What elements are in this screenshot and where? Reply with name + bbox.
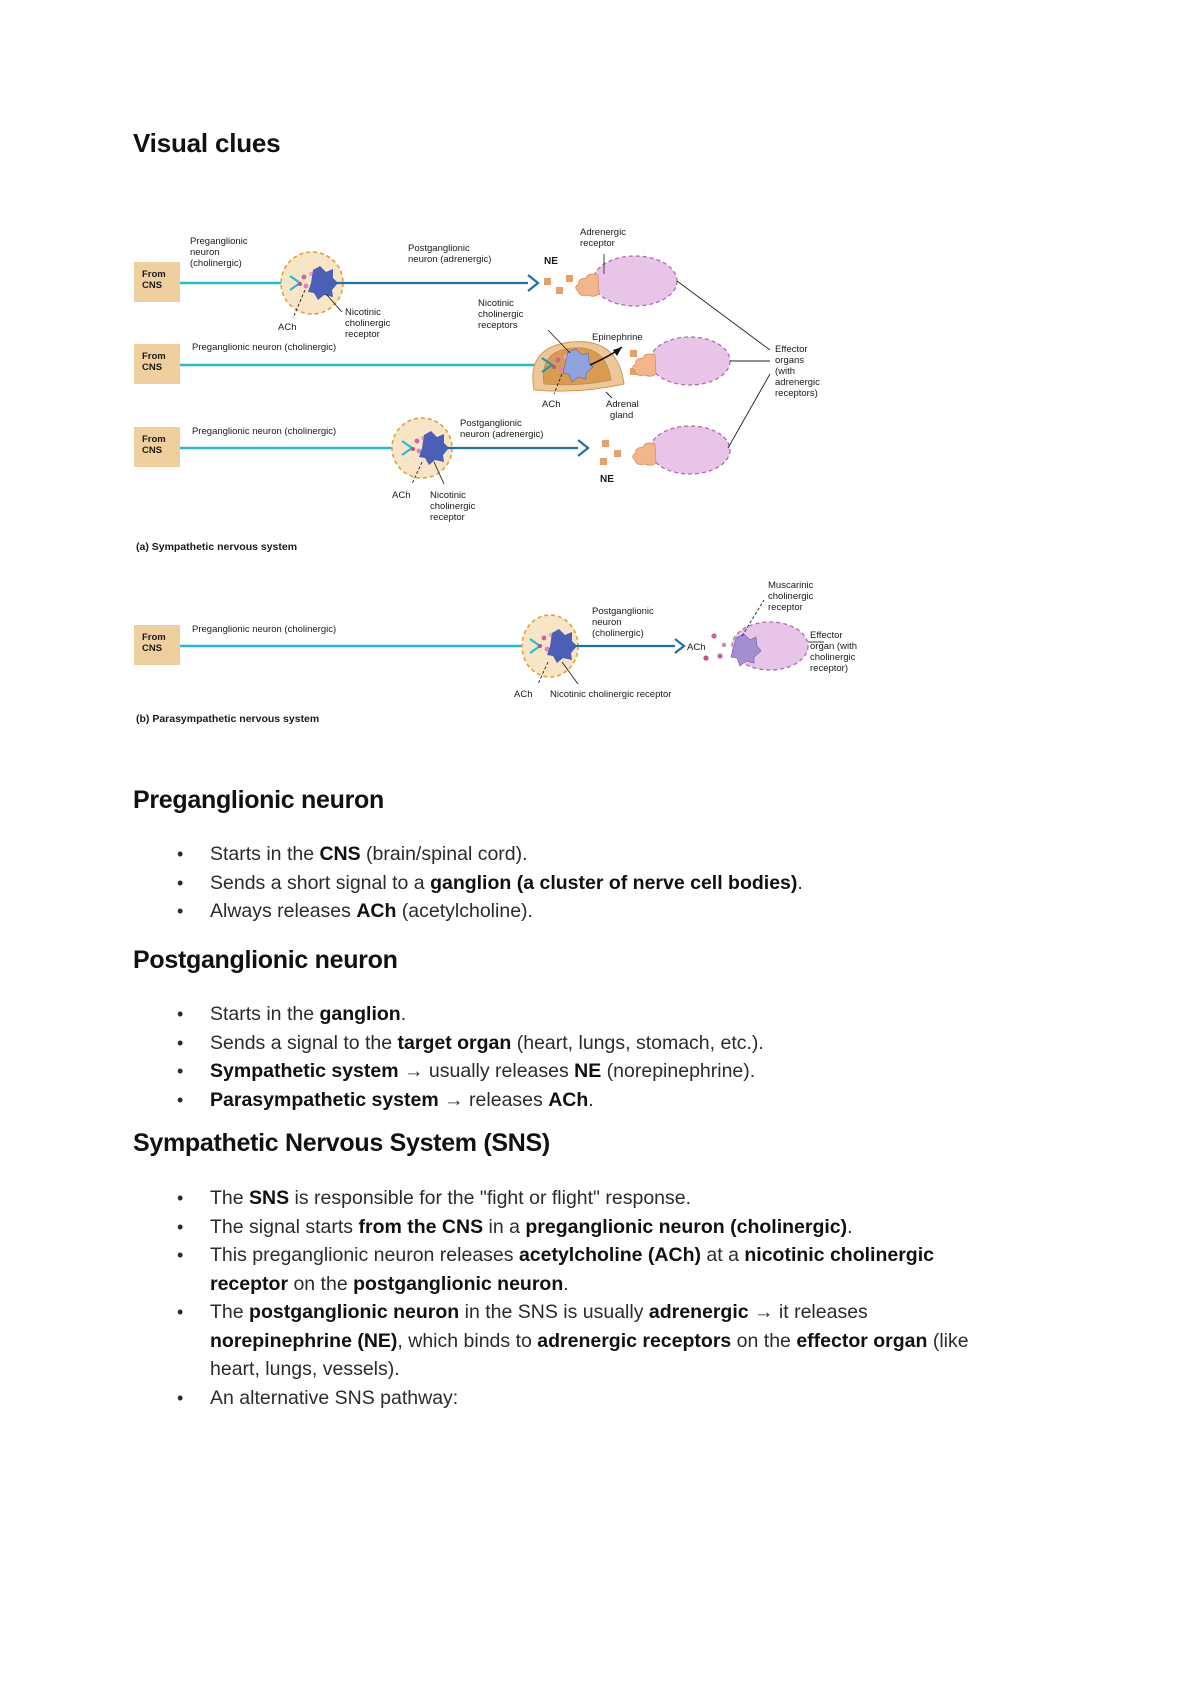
svg-text:cholinergic: cholinergic — [810, 652, 856, 663]
ach-dot — [542, 636, 547, 641]
svg-text:neuron: neuron — [190, 247, 220, 258]
svg-text:organs: organs — [775, 355, 804, 366]
body-text: (brain/spinal cord). — [361, 843, 528, 865]
sns-row-2-adrenal: From CNS Preganglionic neuron (cholinerg… — [134, 298, 730, 421]
body-text: The signal starts — [210, 1216, 358, 1238]
body-text: An alternative SNS pathway: — [210, 1387, 458, 1409]
body-text: → it releases — [749, 1301, 868, 1323]
emphasis-text: ganglion (a cluster of nerve cell bodies… — [430, 872, 797, 894]
emphasis-text: ganglion — [319, 1003, 400, 1025]
body-text: at a — [701, 1244, 744, 1266]
emphasis-text: adrenergic receptors — [537, 1330, 731, 1352]
emphasis-text: SNS — [249, 1187, 289, 1209]
svg-text:gland: gland — [610, 410, 633, 421]
ach-label-2: ACh — [542, 399, 560, 410]
leader-line — [606, 392, 612, 398]
svg-text:cholinergic: cholinergic — [345, 318, 391, 329]
page-title: Visual clues — [133, 128, 280, 159]
body-text: This preganglionic neuron releases — [210, 1244, 519, 1266]
list-item: Sends a short signal to a ganglion (a cl… — [177, 869, 973, 898]
list-item: The postganglionic neuron in the SNS is … — [177, 1298, 973, 1384]
body-text: . — [401, 1003, 406, 1025]
list-sympathetic-nervous-system: The SNS is responsible for the "fight or… — [133, 1184, 973, 1412]
emphasis-text: NE — [574, 1060, 601, 1082]
emphasis-text: ACh — [548, 1089, 588, 1111]
muscarinic-receptor-label: Muscarinic — [768, 580, 814, 591]
epi-square — [630, 350, 637, 357]
body-text: . — [847, 1216, 852, 1238]
emphasis-text: postganglionic neuron — [249, 1301, 459, 1323]
emphasis-text: postganglionic neuron — [353, 1273, 563, 1295]
list-preganglionic-neuron: Starts in the CNS (brain/spinal cord).Se… — [133, 840, 973, 926]
figure-autonomic-nervous-system: From CNS — [130, 222, 860, 732]
preganglionic-label-3: Preganglionic neuron (cholinergic) — [192, 426, 336, 437]
body-text: → releases — [439, 1089, 548, 1111]
svg-text:CNS: CNS — [142, 643, 162, 654]
nicotinic-receptors-label-2: Nicotinic — [478, 298, 514, 309]
ach-label-para: ACh — [687, 642, 705, 653]
list-item: Starts in the CNS (brain/spinal cord). — [177, 840, 973, 869]
svg-text:cholinergic: cholinergic — [768, 591, 814, 602]
emphasis-text: adrenergic — [649, 1301, 749, 1323]
axon-terminal-3 — [578, 440, 588, 456]
list-item: The SNS is responsible for the "fight or… — [177, 1184, 973, 1213]
cns-label-3: From — [142, 434, 166, 445]
ach-dot — [711, 633, 716, 638]
svg-text:CNS: CNS — [142, 280, 162, 291]
svg-text:receptors): receptors) — [775, 388, 818, 399]
svg-text:adrenergic: adrenergic — [775, 377, 820, 388]
parasympathetic-row: From CNS Preganglionic neuron (cholinerg… — [134, 580, 857, 700]
emphasis-text: acetylcholine (ACh) — [519, 1244, 701, 1266]
heading-preganglionic-neuron: Preganglionic neuron — [133, 786, 384, 815]
list-item: The signal starts from the CNS in a preg… — [177, 1213, 973, 1242]
ne-label-3: NE — [600, 474, 614, 485]
effector-organ-callout-label: Effector — [810, 630, 843, 641]
body-text: (norepinephrine). — [601, 1060, 755, 1082]
body-text: on the — [731, 1330, 796, 1352]
svg-text:receptor: receptor — [768, 602, 803, 613]
svg-text:(cholinergic): (cholinergic) — [592, 628, 644, 639]
ne-square — [600, 458, 607, 465]
heading-sympathetic-nervous-system: Sympathetic Nervous System (SNS) — [133, 1129, 550, 1158]
adrenergic-receptor-icon — [633, 354, 656, 376]
list-item: This preganglionic neuron releases acety… — [177, 1241, 973, 1298]
adrenergic-receptor-icon — [633, 443, 656, 465]
caption-b: (b) Parasympathetic nervous system — [136, 713, 319, 725]
body-text: The — [210, 1187, 249, 1209]
svg-text:receptor: receptor — [580, 238, 615, 249]
emphasis-text: CNS — [319, 843, 360, 865]
ne-square — [544, 278, 551, 285]
body-text: Sends a signal to the — [210, 1032, 398, 1054]
effector-organ-3 — [650, 426, 730, 474]
ach-dot — [556, 358, 561, 363]
adrenergic-receptor-label: Adrenergic — [580, 227, 626, 238]
ne-label-1: NE — [544, 256, 558, 267]
body-text: in the SNS is usually — [459, 1301, 649, 1323]
postganglionic-label-3: Postganglionic — [460, 418, 522, 429]
body-text: on the — [288, 1273, 353, 1295]
list-item: Starts in the ganglion. — [177, 1000, 973, 1029]
emphasis-text: Sympathetic system — [210, 1060, 399, 1082]
leader-line — [728, 374, 770, 448]
ach-label-1: ACh — [278, 322, 296, 333]
list-item: Parasympathetic system → releases ACh. — [177, 1086, 973, 1115]
body-text: Starts in the — [210, 843, 319, 865]
effector-organ-2 — [650, 337, 730, 385]
emphasis-text: norepinephrine (NE) — [210, 1330, 397, 1352]
postganglionic-label-1: Postganglionic — [408, 243, 470, 254]
ne-square — [556, 287, 563, 294]
svg-text:CNS: CNS — [142, 362, 162, 373]
ach-dot — [559, 367, 564, 372]
preganglionic-label-2: Preganglionic neuron (cholinergic) — [192, 342, 336, 353]
adrenergic-receptor-icon — [576, 274, 599, 296]
emphasis-text: target organ — [398, 1032, 512, 1054]
svg-text:neuron: neuron — [592, 617, 622, 628]
body-text: → usually releases — [399, 1060, 575, 1082]
effector-organs-label: Effector — [775, 344, 808, 355]
svg-text:organ (with: organ (with — [810, 641, 857, 652]
list-item: Sends a signal to the target organ (hear… — [177, 1029, 973, 1058]
epinephrine-arrowhead — [613, 347, 622, 356]
svg-text:neuron (adrenergic): neuron (adrenergic) — [460, 429, 543, 440]
emphasis-text: preganglionic neuron (cholinergic) — [525, 1216, 847, 1238]
preganglionic-label-para: Preganglionic neuron (cholinergic) — [192, 624, 336, 635]
ach-dot — [298, 282, 302, 286]
cns-label-para: From — [142, 632, 166, 643]
sns-row-1: From CNS — [134, 227, 677, 340]
cns-label-1: From — [142, 269, 166, 280]
body-text: Always releases — [210, 900, 356, 922]
svg-text:cholinergic: cholinergic — [478, 309, 524, 320]
body-text: The — [210, 1301, 249, 1323]
heading-postganglionic-neuron: Postganglionic neuron — [133, 946, 398, 975]
svg-text:(cholinergic): (cholinergic) — [190, 258, 242, 269]
body-text: Sends a short signal to a — [210, 872, 430, 894]
svg-text:receptor: receptor — [430, 512, 465, 523]
list-item: Always releases ACh (acetylcholine). — [177, 897, 973, 926]
ach-dot — [717, 653, 722, 658]
ach-dot — [411, 447, 415, 451]
ach-dot — [415, 439, 420, 444]
axon-terminal-1 — [528, 275, 538, 291]
preganglionic-label-1: Preganglionic — [190, 236, 248, 247]
list-postganglionic-neuron: Starts in the ganglion.Sends a signal to… — [133, 1000, 973, 1114]
list-item: Sympathetic system → usually releases NE… — [177, 1057, 973, 1086]
body-text: . — [563, 1273, 568, 1295]
body-text: (acetylcholine). — [396, 900, 533, 922]
ach-dot — [722, 643, 726, 647]
svg-text:receptors: receptors — [478, 320, 518, 331]
svg-text:CNS: CNS — [142, 445, 162, 456]
emphasis-text: from the CNS — [358, 1216, 483, 1238]
para-ach-label: ACh — [514, 689, 532, 700]
svg-text:neuron (adrenergic): neuron (adrenergic) — [408, 254, 491, 265]
ne-square — [602, 440, 609, 447]
ach-label-3: ACh — [392, 490, 410, 501]
ach-dot — [703, 655, 708, 660]
ach-dot — [552, 365, 556, 369]
caption-a: (a) Sympathetic nervous system — [136, 541, 297, 553]
ach-dot — [538, 644, 542, 648]
svg-text:receptor): receptor) — [810, 663, 848, 674]
list-item: An alternative SNS pathway: — [177, 1384, 973, 1413]
svg-text:receptor: receptor — [345, 329, 380, 340]
body-text: Starts in the — [210, 1003, 319, 1025]
nicotinic-receptor-label-1: Nicotinic — [345, 307, 381, 318]
ach-dot — [304, 284, 309, 289]
para-nicotinic-label: Nicotinic cholinergic receptor — [550, 689, 671, 700]
body-text: in a — [483, 1216, 525, 1238]
postganglionic-label-para: Postganglionic — [592, 606, 654, 617]
emphasis-text: Parasympathetic system — [210, 1089, 439, 1111]
epinephrine-label: Epinephrine — [592, 332, 643, 343]
emphasis-text: effector organ — [796, 1330, 927, 1352]
nicotinic-receptor-label-3: Nicotinic — [430, 490, 466, 501]
svg-text:(with: (with — [775, 366, 795, 377]
adrenal-gland-label: Adrenal — [606, 399, 639, 410]
ne-square — [566, 275, 573, 282]
ne-square — [614, 450, 621, 457]
document-page: Visual clues From CNS — [0, 0, 1200, 1696]
axon-terminal-para — [675, 639, 684, 653]
body-text: . — [588, 1089, 593, 1111]
body-text: is responsible for the "fight or flight"… — [289, 1187, 691, 1209]
body-text: (heart, lungs, stomach, etc.). — [511, 1032, 764, 1054]
body-text: , which binds to — [397, 1330, 537, 1352]
sns-row-3: From CNS Preganglionic neuron (cholinerg… — [134, 418, 730, 523]
body-text: . — [797, 872, 802, 894]
effector-organ-1 — [593, 256, 677, 306]
ach-dot — [302, 275, 307, 280]
emphasis-text: ACh — [356, 900, 396, 922]
svg-text:cholinergic: cholinergic — [430, 501, 476, 512]
cns-label-2: From — [142, 351, 166, 362]
